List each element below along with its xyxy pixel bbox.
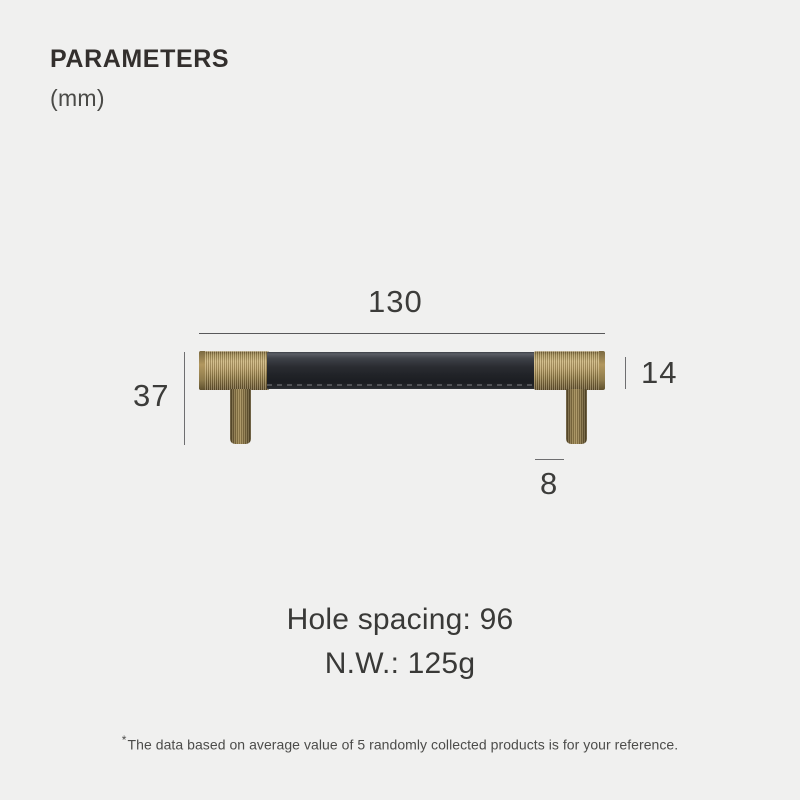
- barrel-stitch-seam: [267, 384, 537, 386]
- dimension-line-length: [199, 333, 605, 334]
- footnote-text: The data based on average value of 5 ran…: [128, 737, 679, 753]
- units-label: (mm): [50, 86, 229, 111]
- brass-end-cap-left: [199, 351, 270, 390]
- cap-end-face-left: [199, 351, 205, 390]
- dimension-label-length: 130: [368, 284, 423, 320]
- footnote-asterisk: *: [122, 733, 127, 747]
- handle-illustration: [199, 351, 605, 445]
- page-title: PARAMETERS: [50, 46, 229, 74]
- specification-list: Hole spacing: 96 N.W.: 125g: [0, 598, 800, 687]
- spec-hole-spacing: Hole spacing: 96: [0, 598, 800, 642]
- brass-end-cap-right: [534, 351, 605, 390]
- dimension-tick-diameter: [625, 357, 626, 389]
- footnote: *The data based on average value of 5 ra…: [0, 733, 800, 753]
- dimension-label-diameter: 14: [641, 355, 677, 391]
- cap-end-face-right: [599, 351, 605, 390]
- dimension-line-height: [184, 352, 185, 445]
- dimension-label-post: 8: [540, 466, 558, 502]
- header-block: PARAMETERS (mm): [50, 46, 229, 111]
- dimension-label-height: 37: [133, 378, 169, 414]
- mounting-post-right: [566, 389, 587, 444]
- dimension-tick-post: [535, 459, 564, 460]
- leather-barrel: [267, 352, 537, 389]
- spec-net-weight: N.W.: 125g: [0, 642, 800, 686]
- mounting-post-left: [230, 389, 251, 444]
